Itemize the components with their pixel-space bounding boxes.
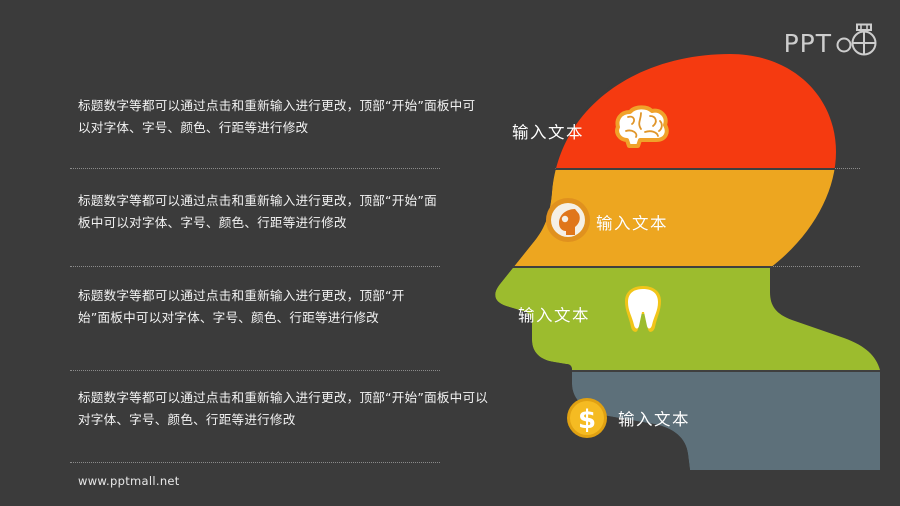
- segment-sense-label: 输入文本: [596, 210, 668, 234]
- tooth-icon: [624, 285, 662, 335]
- segment-tooth-label: 输入文本: [518, 302, 590, 326]
- svg-text:$: $: [578, 405, 596, 435]
- footer-url: www.pptmall.net: [78, 474, 180, 488]
- description-text-3: 标题数字等都可以通过点击和重新输入进行更改，顶部“开始”面板中可以对字体、字号、…: [78, 285, 416, 328]
- description-text-1: 标题数字等都可以通过点击和重新输入进行更改，顶部“开始”面板中可以对字体、字号、…: [78, 95, 488, 138]
- dollar-coin-icon: $: [566, 397, 608, 439]
- head-sense-icon: [545, 197, 591, 243]
- segment-brain-label: 输入文本: [512, 119, 584, 143]
- segment-money-label: 输入文本: [618, 406, 690, 430]
- description-text-4: 标题数字等都可以通过点击和重新输入进行更改，顶部“开始”面板中可以对字体、字号、…: [78, 387, 490, 430]
- description-text-2: 标题数字等都可以通过点击和重新输入进行更改，顶部“开始”面板中可以对字体、字号、…: [78, 190, 440, 233]
- slide-canvas: PPT: [0, 0, 900, 506]
- brain-icon: [614, 102, 670, 150]
